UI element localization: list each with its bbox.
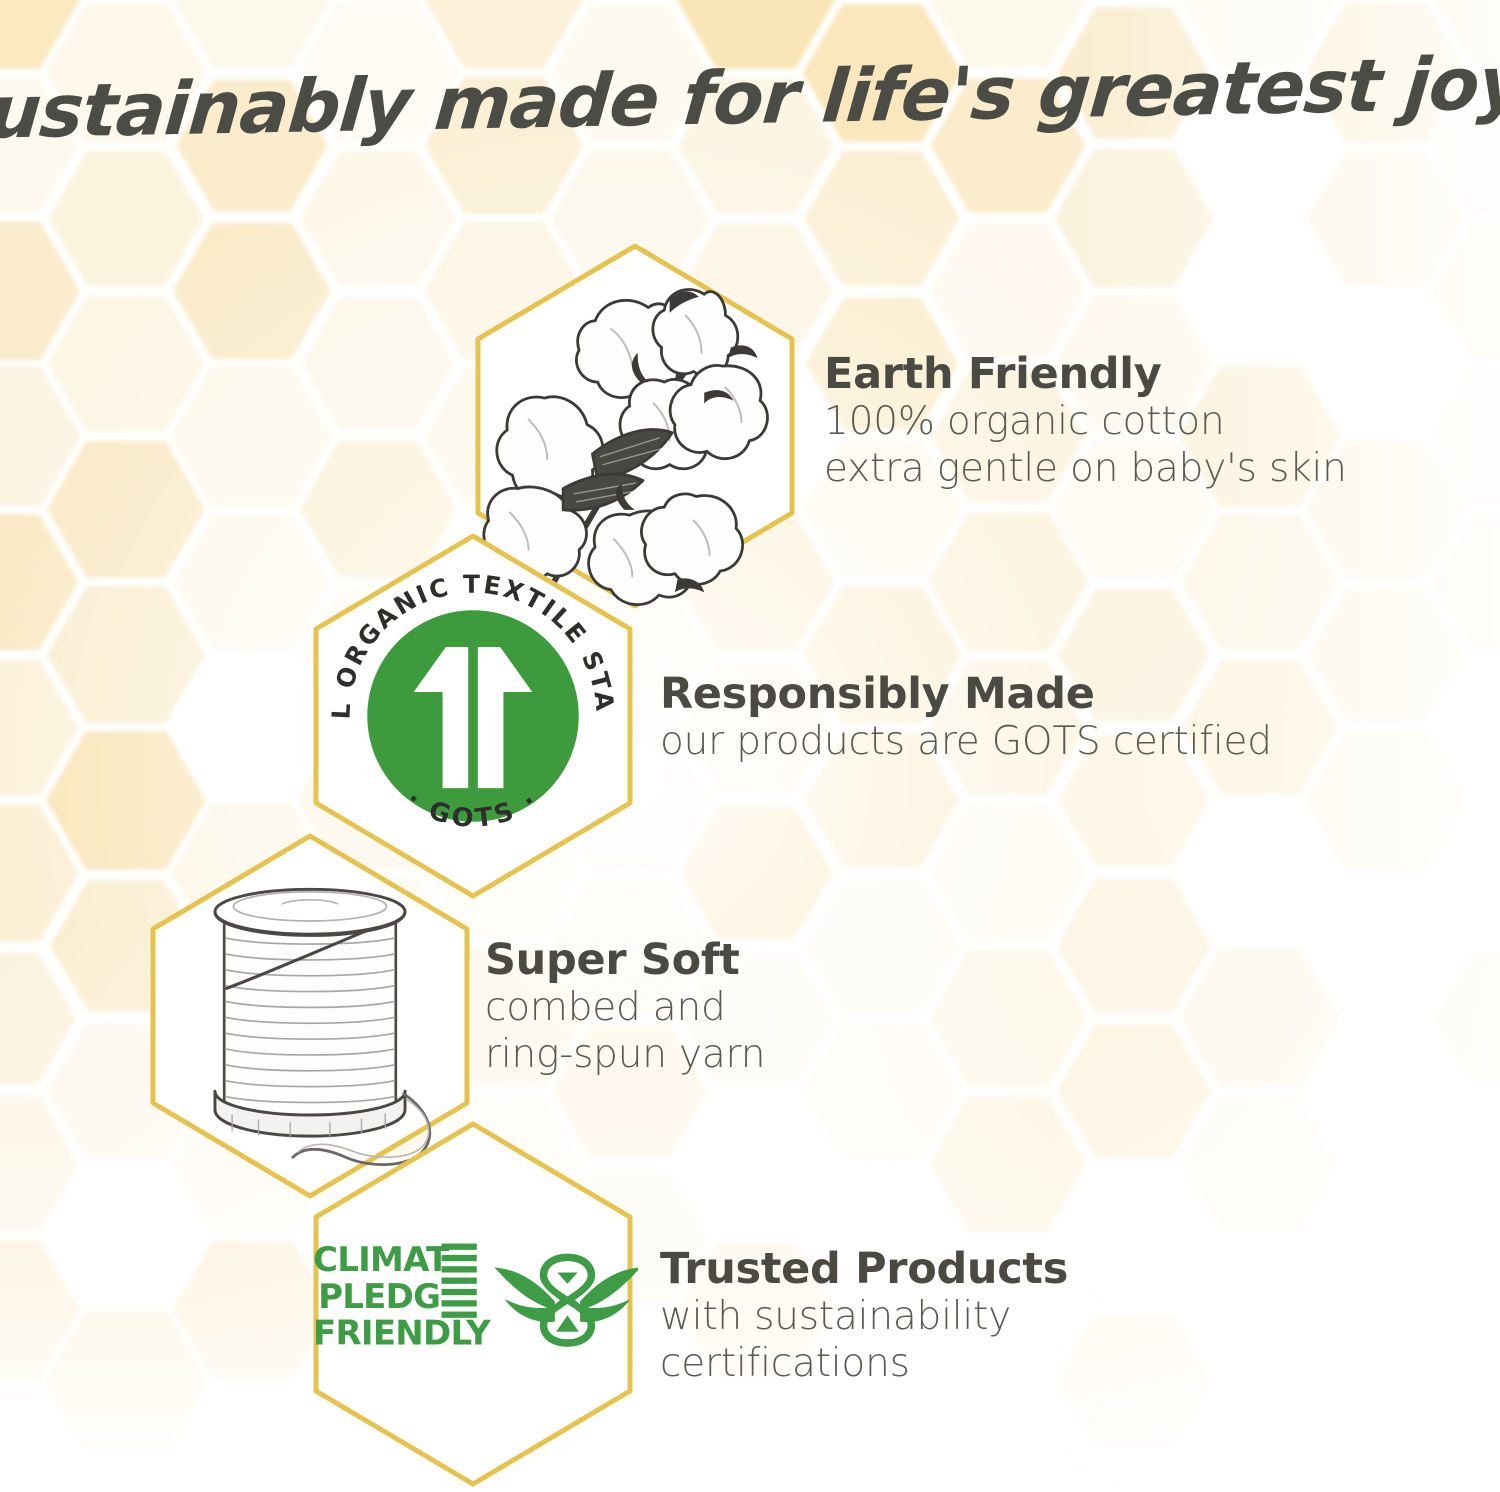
feature-hexagon-trusted-products: CLIMAT PLEDG FRIENDLY: [308, 1118, 638, 1490]
feature-text-super-soft: Super Soft combed and ring-spun yarn: [485, 938, 765, 1079]
winged-hourglass-icon: [494, 1254, 638, 1347]
feature-title: Super Soft: [485, 938, 765, 984]
feature-line: extra gentle on baby's skin: [824, 445, 1347, 493]
feature-text-responsibly-made: Responsibly Made our products are GOTS c…: [660, 672, 1272, 765]
feature-text-trusted-products: Trusted Products with sustainability cer…: [660, 1247, 1068, 1388]
feature-line: our products are GOTS certified: [660, 718, 1272, 766]
feature-line: 100% organic cotton: [824, 398, 1347, 446]
feature-line: combed and: [485, 984, 765, 1032]
feature-title: Responsibly Made: [660, 672, 1272, 718]
feature-title: Earth Friendly: [824, 352, 1347, 398]
feature-title: Trusted Products: [660, 1247, 1068, 1293]
feature-text-earth-friendly: Earth Friendly 100% organic cotton extra…: [824, 352, 1347, 493]
cpf-line-3: FRIENDLY: [313, 1313, 491, 1353]
cpf-line-1: CLIMAT: [313, 1240, 450, 1280]
infographic-canvas: sustainably made for life's greatest joy…: [0, 0, 1500, 1492]
feature-line: ring-spun yarn: [485, 1031, 765, 1079]
climate-pledge-friendly-icon: CLIMAT PLEDG FRIENDLY: [308, 1118, 638, 1490]
feature-line: with sustainability: [660, 1293, 1068, 1341]
feature-line: certifications: [660, 1340, 1068, 1388]
cpf-line-2: PLEDG: [318, 1277, 440, 1317]
